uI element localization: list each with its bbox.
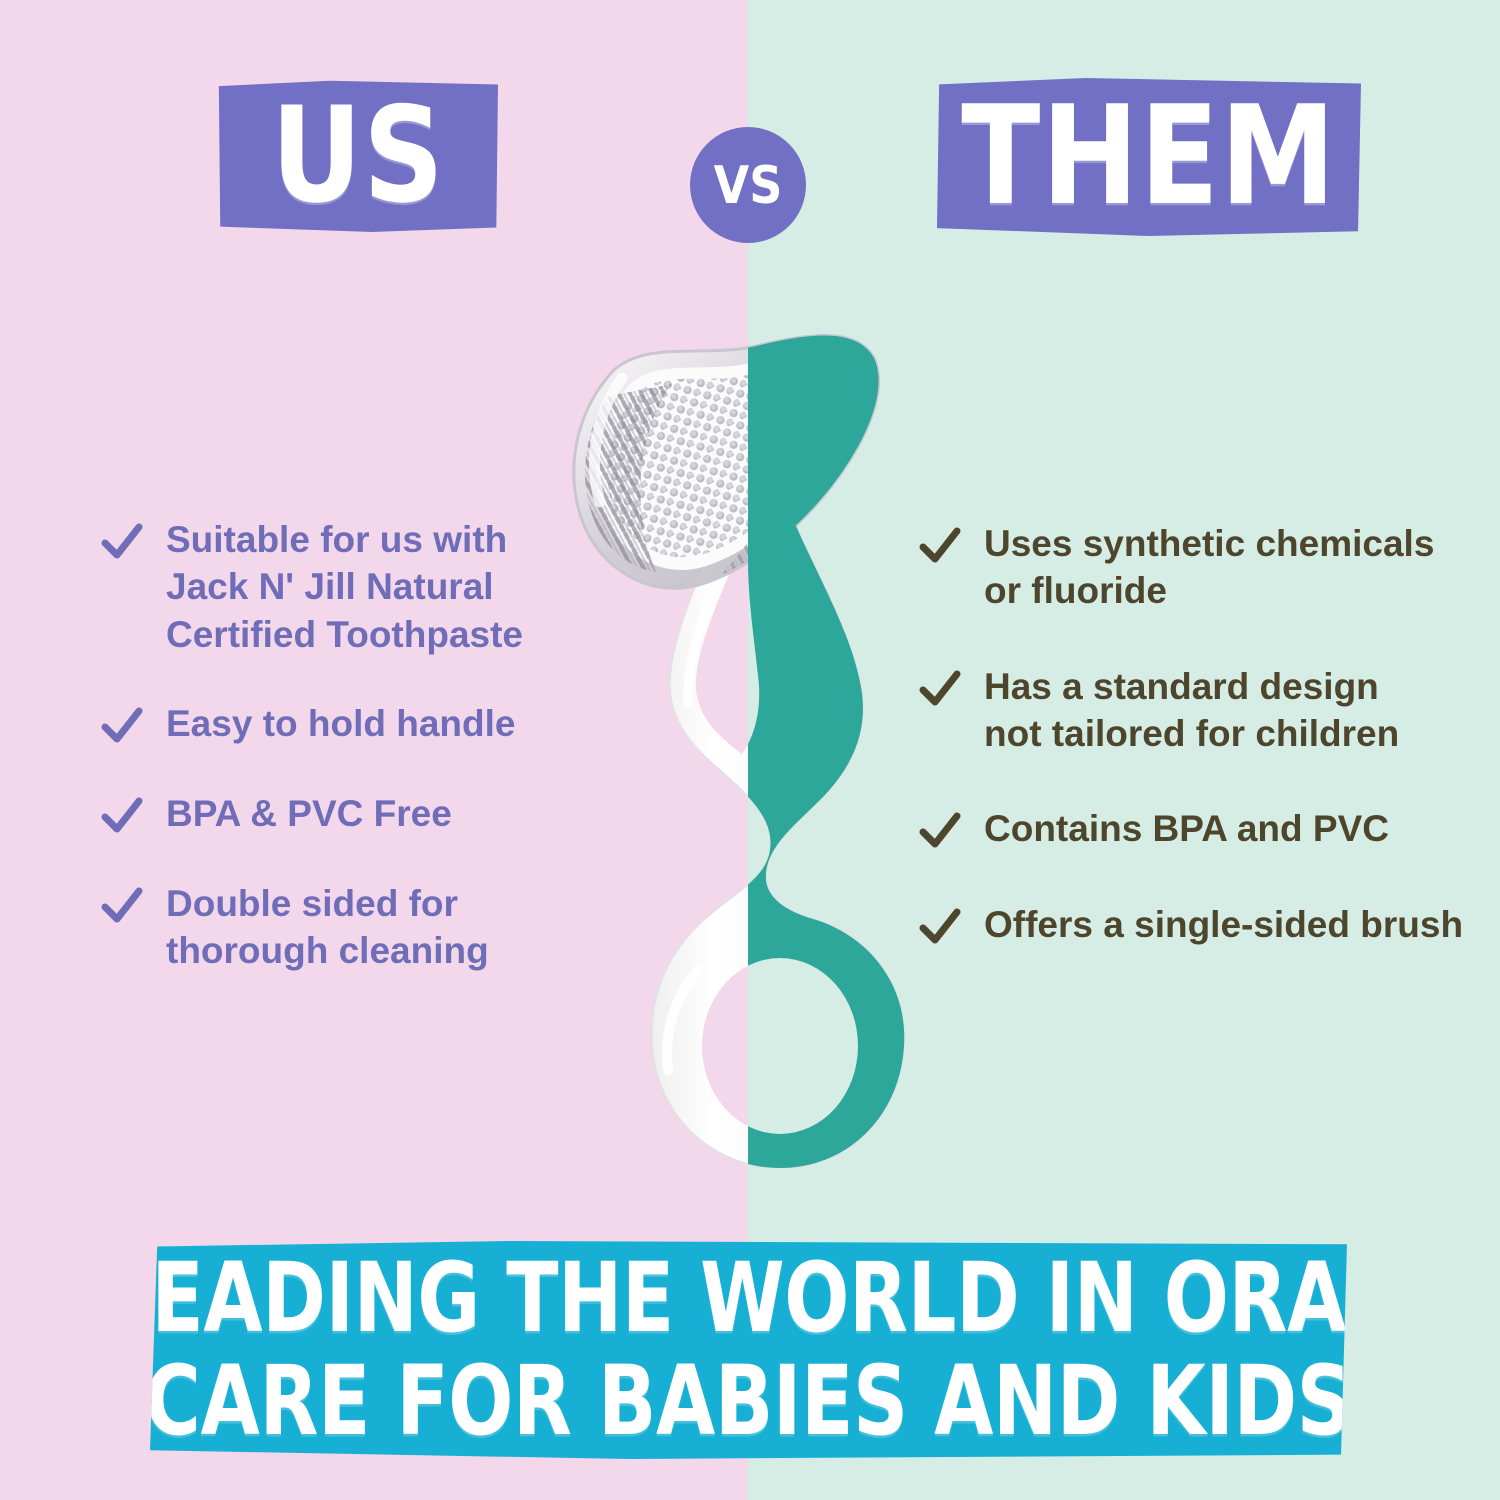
checkmark-icon — [100, 704, 144, 748]
list-item: BPA & PVC Free — [100, 790, 620, 838]
checkmark-icon — [918, 667, 962, 711]
checkmark-icon — [918, 809, 962, 853]
list-item-label: Uses synthetic chemicals or fluoride — [984, 520, 1434, 615]
us-benefits-list: Suitable for us with Jack N' Jill Natura… — [100, 516, 620, 975]
them-badge-label: THEM — [961, 89, 1337, 226]
infographic-canvas: US VS THEM Suitable for us with Jack N' … — [0, 0, 1500, 1500]
list-item-label: Easy to hold handle — [166, 700, 516, 747]
them-badge: THEM — [937, 78, 1361, 236]
tagline-line-2: CARE FOR BABIES AND KIDS — [145, 1352, 1352, 1450]
tagline-line-1: LEADING THE WORLD IN ORAL — [103, 1250, 1395, 1348]
list-item-label: Suitable for us with Jack N' Jill Natura… — [166, 516, 523, 658]
checkmark-icon — [100, 884, 144, 928]
vs-badge: VS — [690, 127, 806, 243]
list-item-label: BPA & PVC Free — [166, 790, 452, 837]
us-badge: US — [218, 80, 498, 232]
list-item: Double sided for thorough cleaning — [100, 880, 620, 975]
list-item: Has a standard design not tailored for c… — [918, 663, 1478, 758]
list-item: Suitable for us with Jack N' Jill Natura… — [100, 516, 620, 658]
list-item: Easy to hold handle — [100, 700, 620, 748]
checkmark-icon — [918, 524, 962, 568]
them-drawbacks-list: Uses synthetic chemicals or fluoride Has… — [918, 520, 1478, 949]
list-item-label: Has a standard design not tailored for c… — [984, 663, 1399, 758]
tagline-banner: LEADING THE WORLD IN ORAL CARE FOR BABIE… — [150, 1241, 1347, 1459]
checkmark-icon — [918, 905, 962, 949]
checkmark-icon — [100, 520, 144, 564]
list-item: Offers a single-sided brush — [918, 901, 1478, 949]
vs-badge-label: VS — [714, 159, 783, 211]
checkmark-icon — [100, 794, 144, 838]
list-item-label: Offers a single-sided brush — [984, 901, 1463, 948]
list-item-label: Contains BPA and PVC — [984, 805, 1389, 852]
list-item-label: Double sided for thorough cleaning — [166, 880, 489, 975]
list-item: Uses synthetic chemicals or fluoride — [918, 520, 1478, 615]
us-badge-label: US — [271, 90, 445, 222]
list-item: Contains BPA and PVC — [918, 805, 1478, 853]
